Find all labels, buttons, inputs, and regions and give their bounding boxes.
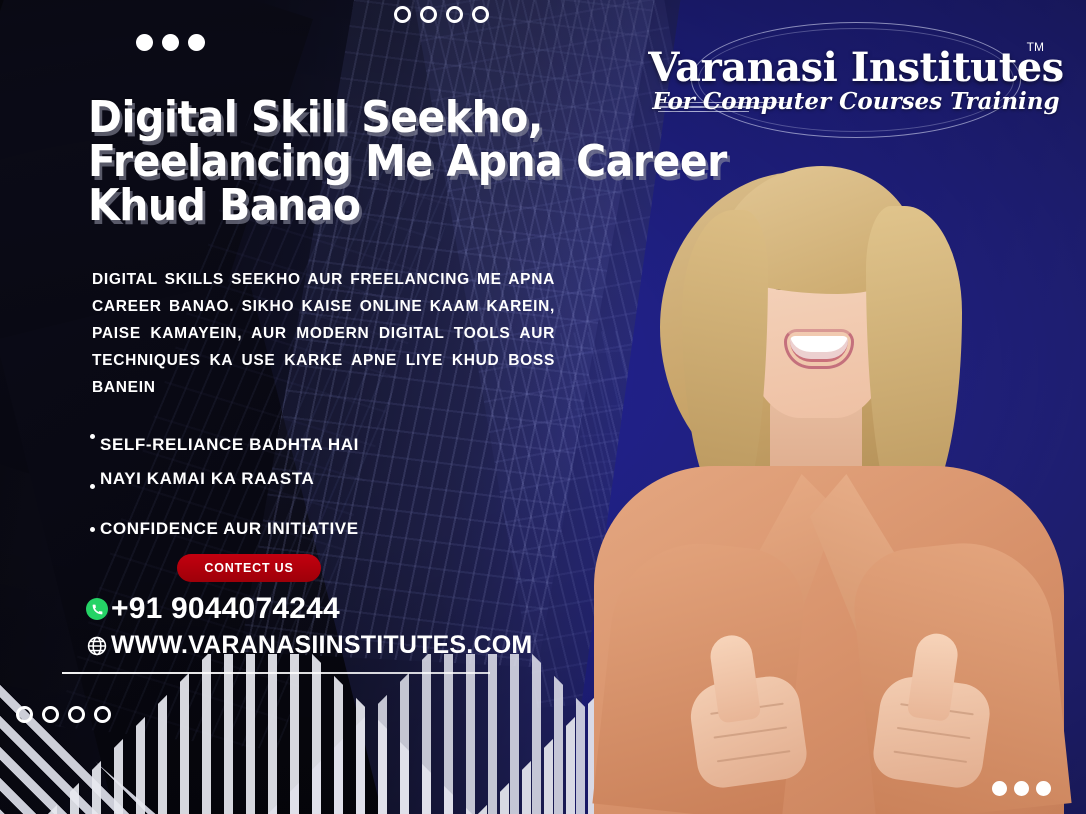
headline-line-1: Digital Skill Seekho, <box>88 96 646 140</box>
contact-us-button[interactable]: CONTECT US <box>177 554 321 582</box>
list-item-label: CONFIDENCE AUR INITIATIVE <box>100 519 359 539</box>
dot-solid <box>1036 781 1051 796</box>
dot-solid <box>162 34 179 51</box>
brand-logo[interactable]: Varanasi Institutes TM For Computer Cour… <box>646 18 1066 138</box>
body-paragraph: DIGITAL SKILLS SEEKHO AUR FREELANCING ME… <box>92 266 555 401</box>
globe-icon <box>86 635 108 657</box>
list-item-label: NAYI KAMAI KA RAASTA <box>100 469 314 489</box>
dot-group-bottom-right <box>992 781 1051 796</box>
dot-solid <box>136 34 153 51</box>
dot-ring <box>16 706 33 723</box>
list-item: SELF-RELIANCE BADHTA HAI <box>90 428 510 462</box>
headline-line-2: Freelancing Me Apna Career <box>88 140 646 184</box>
dot-ring <box>394 6 411 23</box>
website-url: WWW.VARANASIINSTITUTES.COM <box>111 631 532 660</box>
dot-solid <box>188 34 205 51</box>
lips <box>784 329 854 369</box>
whatsapp-icon <box>86 598 108 620</box>
dot-ring <box>446 6 463 23</box>
dot-group-bottom-left <box>16 706 111 723</box>
dot-ring <box>94 706 111 723</box>
phone-number: +91 9044074244 <box>111 592 340 626</box>
promo-poster: Varanasi Institutes TM For Computer Cour… <box>0 0 1086 814</box>
logo-tagline: For Computer Courses Training <box>646 88 1066 115</box>
thumbs-up-right <box>870 627 1000 791</box>
headline-line-3: Khud Banao <box>88 184 646 228</box>
list-item: NAYI KAMAI KA RAASTA <box>90 462 510 496</box>
website-contact[interactable]: WWW.VARANASIINSTITUTES.COM <box>86 631 532 660</box>
dot-ring <box>68 706 85 723</box>
dot-ring <box>42 706 59 723</box>
list-item: CONFIDENCE AUR INITIATIVE <box>90 512 510 546</box>
dot-ring <box>472 6 489 23</box>
benefit-list: SELF-RELIANCE BADHTA HAI NAYI KAMAI KA R… <box>90 428 510 546</box>
dot-ring <box>420 6 437 23</box>
bullet-dot-icon <box>90 527 95 532</box>
headline: Digital Skill Seekho, Freelancing Me Apn… <box>88 96 646 228</box>
phone-contact[interactable]: +91 9044074244 <box>86 592 340 626</box>
dot-solid <box>1014 781 1029 796</box>
logo-wordmark: Varanasi Institutes <box>646 44 1066 91</box>
dot-solid <box>992 781 1007 796</box>
dot-group-top-left <box>136 34 205 51</box>
trademark-mark: TM <box>1027 40 1044 54</box>
bullet-dot-icon <box>90 434 95 439</box>
divider-rule <box>62 672 490 674</box>
bullet-dot-icon <box>90 484 95 489</box>
thumbs-up-left <box>680 627 810 791</box>
list-item-label: SELF-RELIANCE BADHTA HAI <box>100 435 359 455</box>
dot-group-top-center <box>394 6 489 23</box>
